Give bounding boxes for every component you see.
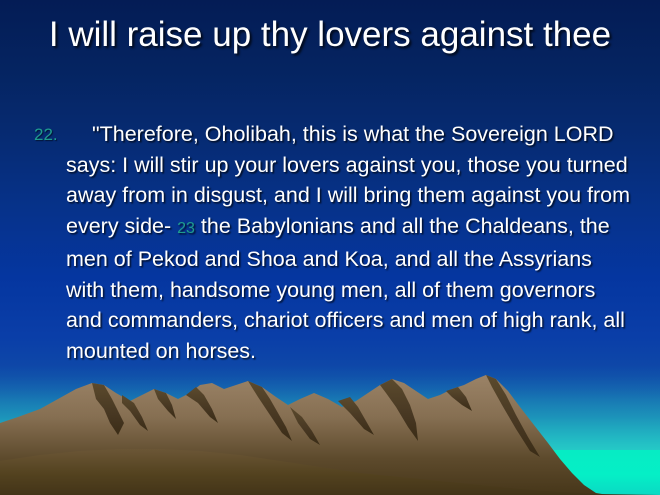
verse-number-marker: 22.	[34, 119, 66, 151]
mountain-range-icon	[0, 365, 660, 495]
scenery-graphic	[0, 365, 660, 495]
verse-body-text: "Therefore, Oholibah, this is what the S…	[66, 119, 634, 366]
inline-verse-number: 23	[177, 220, 195, 237]
presentation-slide: I will raise up thy lovers against thee …	[0, 0, 660, 495]
slide-body: 22. "Therefore, Oholibah, this is what t…	[34, 119, 634, 366]
slide-title: I will raise up thy lovers against thee	[40, 14, 620, 55]
verse-paragraph: 22. "Therefore, Oholibah, this is what t…	[34, 119, 634, 366]
